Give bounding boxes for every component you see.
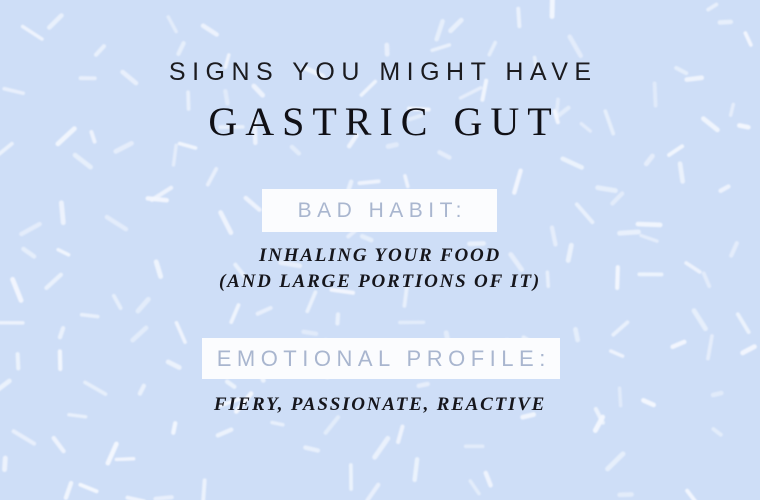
card-content: SIGNS YOU MIGHT HAVE GASTRIC GUT (0, 0, 760, 500)
eyebrow-text: SIGNS YOU MIGHT HAVE (162, 60, 597, 85)
infographic-card: SIGNS YOU MIGHT HAVE GASTRIC GUT BAD HAB… (0, 0, 760, 500)
page-title: GASTRIC GUT (200, 102, 559, 142)
